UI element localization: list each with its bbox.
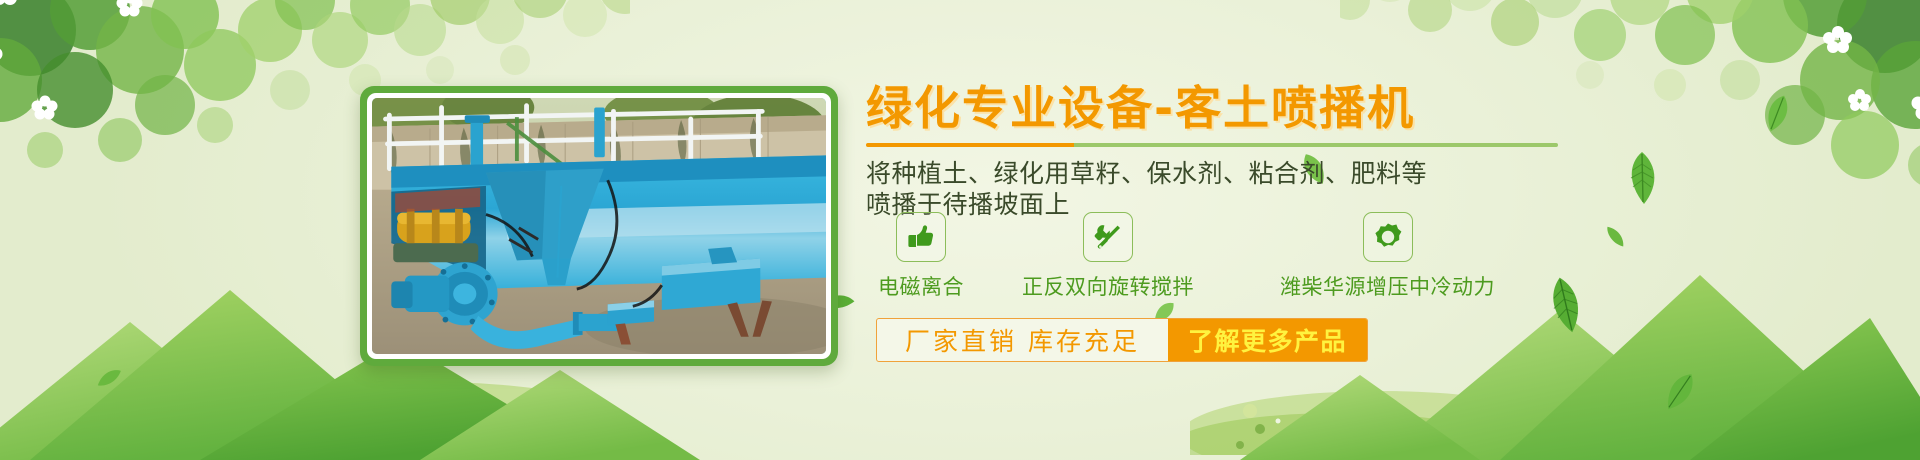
feature-item-electromagnetic-clutch: 电磁离合 <box>878 212 964 301</box>
product-photo: 客土喷播机产品照片 <box>372 98 826 354</box>
feature-label: 电磁离合 <box>878 271 964 301</box>
subtitle-line-1: 将种植土、绿化用草籽、保水剂、粘合剂、肥料等 <box>866 158 1566 190</box>
promo-banner: 客土喷播机产品照片 <box>0 0 1920 460</box>
product-photo-frame: 客土喷播机产品照片 <box>360 86 838 366</box>
leaf-icon <box>94 367 126 395</box>
feature-label: 正反双向旋转搅拌 <box>1022 271 1194 301</box>
feature-label: 潍柴华源增压中冷动力 <box>1280 271 1495 301</box>
thumbs-up-icon <box>896 212 946 262</box>
cta-bar[interactable]: 厂家直销 库存充足 了解更多产品 <box>876 318 1368 362</box>
feature-list: 电磁离合 正反双向旋转搅拌 潍柴华源增压中冷动力 <box>866 212 1586 301</box>
cta-tagline: 厂家直销 库存充足 <box>877 319 1168 361</box>
leaf-icon <box>1649 362 1708 424</box>
title-underline-rule <box>866 143 1558 147</box>
feature-item-bidirectional-mixing: 正反双向旋转搅拌 <box>1022 212 1194 301</box>
grass-texture-right-decoration <box>1190 345 1590 460</box>
wrench-screwdriver-icon <box>1083 212 1133 262</box>
banner-content: 绿化专业设备-客土喷播机 将种植土、绿化用草籽、保水剂、粘合剂、肥料等 喷播于待… <box>866 84 1566 221</box>
page-title: 绿化专业设备-客土喷播机 <box>866 84 1566 134</box>
learn-more-button[interactable]: 了解更多产品 <box>1168 319 1367 361</box>
leaf-icon <box>1600 222 1627 253</box>
leaf-icon <box>1620 150 1664 211</box>
product-photo-inner-border: 客土喷播机产品照片 <box>367 93 831 359</box>
hydroseeder-machine-image: 客土喷播机产品照片 <box>372 98 826 354</box>
gear-icon <box>1363 212 1413 262</box>
feature-item-weichai-power: 潍柴华源增压中冷动力 <box>1280 212 1495 301</box>
leaf-icon <box>1752 88 1799 144</box>
